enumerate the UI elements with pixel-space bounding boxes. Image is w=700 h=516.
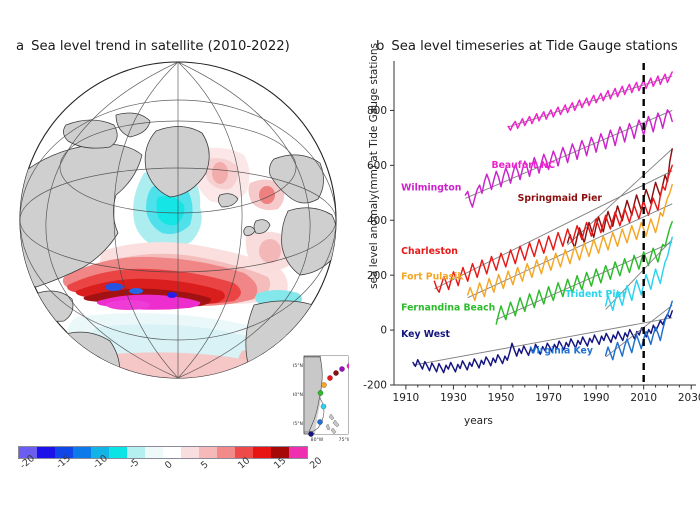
inset-lon-75: 75°W: [339, 437, 349, 442]
colorbar-container: -20-15-10-505101520: [18, 446, 308, 516]
inset-lat-30: 30°N: [293, 392, 303, 398]
inset-station-dot: [317, 419, 322, 424]
panel-b-timeseries-chart: sea level anomaly(mm) at Tide Gauge stat…: [352, 55, 700, 455]
colorbar-swatch: [289, 447, 307, 458]
y-tick-label: -200: [363, 380, 387, 392]
inset-lon-80: 80°W: [311, 437, 324, 442]
inset-station-dot: [321, 404, 326, 409]
colorbar-swatch: [37, 447, 55, 458]
y-tick-label: 600: [367, 160, 387, 172]
colorbar-swatch: [145, 447, 163, 458]
panel-a-tag: a: [16, 39, 24, 54]
series-line: [606, 301, 673, 359]
series-annotation-label: Fort Pulasik: [401, 271, 464, 282]
colorbar-tick-label: 0: [163, 459, 175, 471]
inset-lat-25: 25°N: [293, 421, 303, 427]
y-tick-label: 800: [367, 105, 387, 117]
x-tick-label: 2030: [678, 392, 700, 404]
series-annotation-label: Key West: [401, 329, 450, 340]
colorbar-swatch: [181, 447, 199, 458]
inset-svg: 35°N 30°N 25°N 80°W 75°W: [293, 354, 349, 442]
inset-lat-labels: 35°N 30°N 25°N: [293, 363, 303, 427]
x-tick-label: 2010: [630, 392, 657, 404]
series-line: [434, 165, 672, 292]
inset-lat-35: 35°N: [293, 363, 303, 369]
panel-a-title: aSea level trend in satellite (2010-2022…: [16, 39, 290, 54]
y-tick-label: 400: [367, 215, 387, 227]
series-annotation-label: Wilmington: [401, 183, 461, 194]
series-annotation-label: Fernandina Beach: [401, 302, 495, 313]
colorbar-swatch: [217, 447, 235, 458]
inset-station-dot: [327, 375, 332, 380]
colorbar-swatch: [127, 447, 145, 458]
x-tick-label: 1990: [583, 392, 610, 404]
colorbar-swatch: [199, 447, 217, 458]
series-annotation-label: Virginia Key: [530, 345, 593, 356]
x-tick-label: 1930: [440, 392, 467, 404]
colorbar-swatch: [73, 447, 91, 458]
x-tick-label: 1910: [393, 392, 420, 404]
station-location-inset: 35°N 30°N 25°N 80°W 75°W: [293, 354, 349, 442]
panel-b-title-text: Sea level timeseries at Tide Gauge stati…: [391, 39, 677, 54]
series-annotation-label: Springmaid Pier: [518, 193, 603, 204]
colorbar-tick-label: 5: [199, 459, 211, 471]
panel-b-title: bSea level timeseries at Tide Gauge stat…: [376, 39, 678, 54]
series-annotation-label: Beaufort NC: [491, 160, 555, 171]
figure-root: aSea level trend in satellite (2010-2022…: [0, 0, 700, 467]
y-tick-label: 0: [380, 325, 387, 337]
y-tick-label: 200: [367, 270, 387, 282]
inset-lon-labels: 80°W 75°W: [311, 437, 349, 442]
colorbar-swatch: [253, 447, 271, 458]
inset-station-dot: [333, 370, 338, 375]
inset-station-dot: [318, 390, 323, 395]
inset-station-dot: [321, 382, 326, 387]
colorbar-tick-label: 20: [308, 455, 324, 471]
series-annotation-label: Charleston: [401, 246, 458, 257]
inset-station-dot: [308, 431, 313, 436]
colorbar-tick-label: -5: [127, 457, 141, 472]
globe-svg: [6, 55, 350, 395]
colorbar-swatch: [109, 447, 127, 458]
x-tick-label: 1950: [488, 392, 515, 404]
colorbar-swatch: [163, 447, 181, 458]
series-annotation-label: Trident Pier: [565, 289, 627, 300]
series-trend-line: [468, 204, 673, 298]
inset-station-dot: [339, 366, 344, 371]
timeseries-svg: -200020040060080019101930195019701990201…: [352, 55, 700, 455]
panel-a-globe-map: 35°N 30°N 25°N 80°W 75°W -20-15-10-50510…: [6, 55, 350, 395]
panel-a-title-text: Sea level trend in satellite (2010-2022): [31, 39, 290, 54]
series-trend-line: [413, 318, 672, 366]
x-tick-label: 1970: [535, 392, 562, 404]
